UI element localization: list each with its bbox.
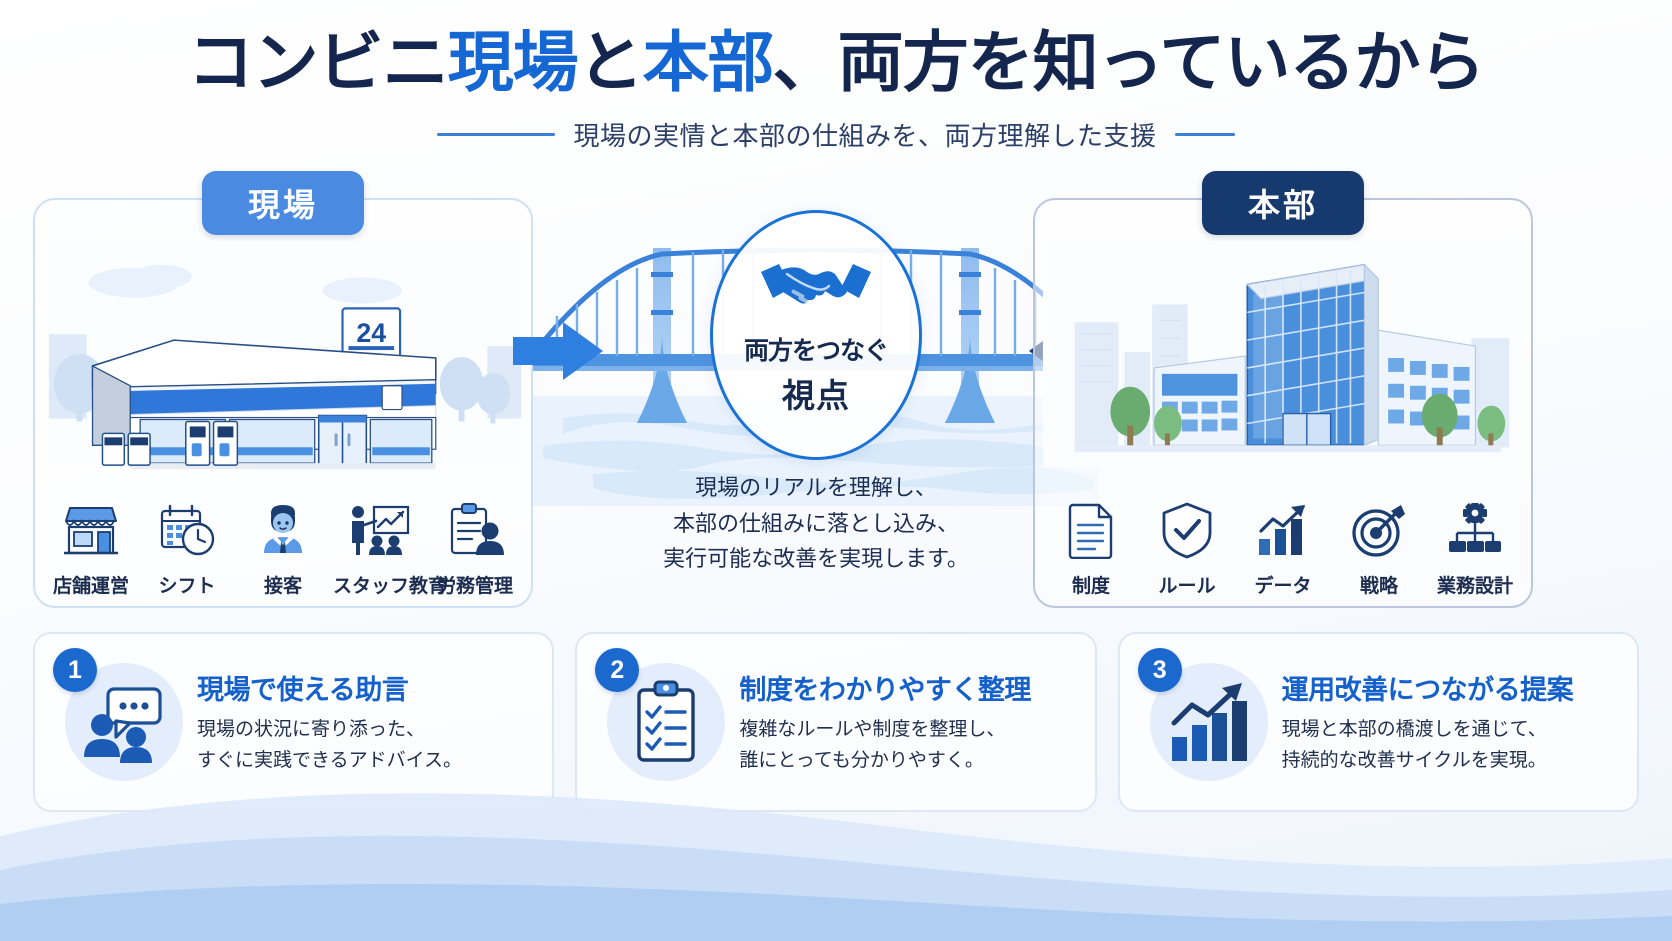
icon-label: 制度 xyxy=(1045,571,1137,598)
hub-line-2: 視点 xyxy=(782,369,850,417)
icon-cell-gyomu: 業務設計 xyxy=(1429,493,1521,598)
icon-cell-roumu: 労務管理 xyxy=(429,493,521,598)
panel-genba-tag: 現場 xyxy=(202,171,364,235)
card-text-2: 制度をわかりやすく整理 複雑なルールや制度を整理し、 誰にとっても分かりやすく。 xyxy=(739,668,1078,775)
icon-cell-rule: ルール xyxy=(1141,493,1233,598)
card-heading: 制度をわかりやすく整理 xyxy=(739,668,1078,707)
icon-cell-seido: 制度 xyxy=(1045,493,1137,598)
document-icon xyxy=(1045,493,1137,567)
icon-cell-sekkyaku: 接客 xyxy=(237,493,329,598)
icon-label: データ xyxy=(1237,571,1329,598)
training-presentation-icon xyxy=(333,493,425,567)
connection-hub: 両方をつなぐ 視点 xyxy=(710,210,922,460)
icon-cell-data: データ xyxy=(1237,493,1329,598)
page-title: コンビニ現場と本部、両方を知っているから xyxy=(0,26,1672,100)
icon-label: 労務管理 xyxy=(429,571,521,598)
card-number-badge: 3 xyxy=(1138,648,1182,692)
card-body-line: 複雑なルールや制度を整理し、 xyxy=(739,715,1078,745)
center-bridge-section: 両方をつなぐ 視点 現場のリアルを理解し、 本部の仕組みに落とし込み、 実行可能… xyxy=(533,206,1099,606)
card-body: 現場と本部の橋渡しを通じて、 持続的な改善サイクルを実現。 xyxy=(1282,715,1621,775)
icon-label: 店舗運営 xyxy=(45,571,137,598)
honbu-icon-row: 制度 ルール データ xyxy=(1035,493,1531,598)
page-subtitle: 現場の実情と本部の仕組みを、両方理解した支援 xyxy=(573,116,1156,153)
benefit-card-2: 2 制度をわかりやすく整理 複雑なルールや xyxy=(575,632,1096,812)
benefit-card-3: 3 運用改善につながる提案 現場と本部の橋渡しを通じて、 持続的な改善サイクルを… xyxy=(1118,632,1639,812)
panel-honbu: 本部 xyxy=(1033,198,1533,608)
card-text-1: 現場で使える助言 現場の状況に寄り添った、 すぐに実践できるアドバイス。 xyxy=(197,668,536,775)
icon-label: 戦略 xyxy=(1333,571,1425,598)
target-dart-icon xyxy=(1333,493,1425,567)
subtitle-row: 現場の実情と本部の仕組みを、両方理解した支援 xyxy=(0,116,1672,153)
card-body-line: 誰にとっても分かりやすく。 xyxy=(739,746,1078,776)
card-number-badge: 2 xyxy=(595,648,639,692)
card-body-line: すぐに実践できるアドバイス。 xyxy=(197,746,536,776)
calendar-clock-icon xyxy=(141,493,233,567)
title-part-3: 本部 xyxy=(643,25,773,99)
subtitle-rule-left xyxy=(437,133,555,136)
center-note-line: 現場のリアルを理解し、 xyxy=(533,470,1099,506)
benefit-cards: 1 現場で使える助言 現場の状況に寄り添った、 すぐに実践できるアドバイス。 xyxy=(33,632,1639,812)
card-body-line: 現場の状況に寄り添った、 xyxy=(197,715,536,745)
card-number-badge: 1 xyxy=(53,648,97,692)
icon-cell-senryaku: 戦略 xyxy=(1333,493,1425,598)
staff-person-icon xyxy=(237,493,329,567)
icon-label: 接客 xyxy=(237,571,329,598)
panel-honbu-tag: 本部 xyxy=(1202,171,1364,235)
panel-genba: 現場 24 xyxy=(33,198,533,608)
icon-label: シフト xyxy=(141,571,233,598)
convenience-store-illustration: 24 xyxy=(35,234,531,482)
clipboard-person-icon xyxy=(429,493,521,567)
subtitle-rule-right xyxy=(1175,133,1235,136)
handshake-icon xyxy=(757,254,875,325)
svg-text:24: 24 xyxy=(356,318,386,348)
icon-label: 業務設計 xyxy=(1429,571,1521,598)
arrow-right-icon xyxy=(513,320,603,382)
center-description: 現場のリアルを理解し、 本部の仕組みに落とし込み、 実行可能な改善を実現します。 xyxy=(533,470,1099,577)
card-body: 現場の状況に寄り添った、 すぐに実践できるアドバイス。 xyxy=(197,715,536,775)
genba-icon-row: 店舗運営 シフト xyxy=(35,493,531,598)
card-body: 複雑なルールや制度を整理し、 誰にとっても分かりやすく。 xyxy=(739,715,1078,775)
page-header: コンビニ現場と本部、両方を知っているから 現場の実情と本部の仕組みを、両方理解し… xyxy=(0,0,1672,153)
icon-label: スタッフ教育 xyxy=(333,571,425,598)
bar-chart-arrow-icon xyxy=(1237,493,1329,567)
icon-cell-training: スタッフ教育 xyxy=(333,493,425,598)
card-heading: 運用改善につながる提案 xyxy=(1282,668,1621,707)
storefront-icon xyxy=(45,493,137,567)
card-text-3: 運用改善につながる提案 現場と本部の橋渡しを通じて、 持続的な改善サイクルを実現… xyxy=(1282,668,1621,775)
card-heading: 現場で使える助言 xyxy=(197,668,536,707)
center-note-line: 本部の仕組みに落とし込み、 xyxy=(533,506,1099,542)
headquarters-office-illustration xyxy=(1035,234,1531,482)
shield-check-icon xyxy=(1141,493,1233,567)
title-part-0: コンビニ xyxy=(188,25,448,99)
center-note-line: 実行可能な改善を実現します。 xyxy=(533,541,1099,577)
icon-label: ルール xyxy=(1141,571,1233,598)
icon-cell-storefront: 店舗運営 xyxy=(45,493,137,598)
icon-cell-shift: シフト xyxy=(141,493,233,598)
gear-org-chart-icon xyxy=(1429,493,1521,567)
card-body-line: 持続的な改善サイクルを実現。 xyxy=(1282,746,1621,776)
card-body-line: 現場と本部の橋渡しを通じて、 xyxy=(1282,715,1621,745)
title-part-2: と xyxy=(578,25,643,99)
hub-line-1: 両方をつなぐ xyxy=(744,331,888,367)
benefit-card-1: 1 現場で使える助言 現場の状況に寄り添った、 すぐに実践できるアドバイス。 xyxy=(33,632,554,812)
title-part-4: 、両方を知っているから xyxy=(773,25,1485,99)
title-part-1: 現場 xyxy=(448,25,578,99)
